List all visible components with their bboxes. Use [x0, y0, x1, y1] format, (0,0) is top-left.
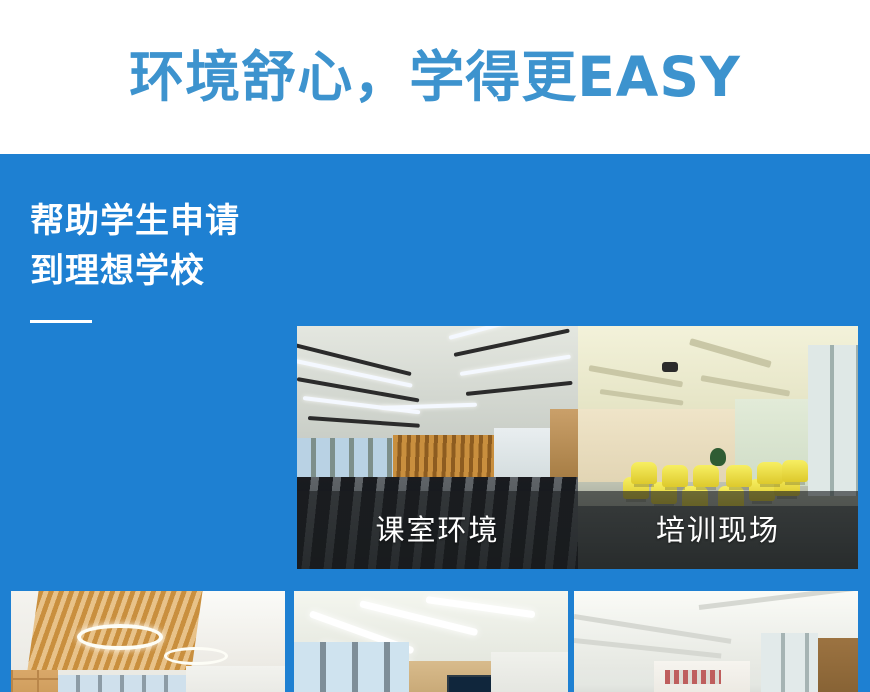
tile-caption: 课室环境: [375, 516, 499, 545]
promo-banner: 环境舒心，学得更EASY 帮助学生申请 到理想学校: [0, 0, 870, 692]
page-header: 环境舒心，学得更EASY: [0, 0, 870, 154]
sidebar-divider: [30, 320, 92, 323]
gallery-tile[interactable]: 课室环境: [297, 326, 578, 569]
sidebar-headline-line2: 到理想学校: [30, 246, 288, 296]
caption-band: 培训现场: [578, 491, 858, 569]
sidebar-headline: 帮助学生申请 到理想学校: [30, 196, 288, 323]
photo-campus-corner: [574, 591, 858, 692]
sidebar-headline-line1: 帮助学生申请: [30, 196, 288, 246]
gallery-tile[interactable]: 咨询区: [11, 591, 285, 692]
caption-band: 课室环境: [297, 491, 578, 569]
gallery-tile[interactable]: 学习环境: [294, 591, 568, 692]
photo-study-room: [294, 591, 568, 692]
tile-caption: 培训现场: [656, 516, 780, 545]
gallery-tile[interactable]: 校区一角: [574, 591, 858, 692]
page-title: 环境舒心，学得更EASY: [129, 50, 741, 105]
photo-consultation-lounge: [11, 591, 285, 692]
gallery-panel: 帮助学生申请 到理想学校: [0, 154, 870, 692]
gallery-tile[interactable]: 培训现场: [578, 326, 858, 569]
